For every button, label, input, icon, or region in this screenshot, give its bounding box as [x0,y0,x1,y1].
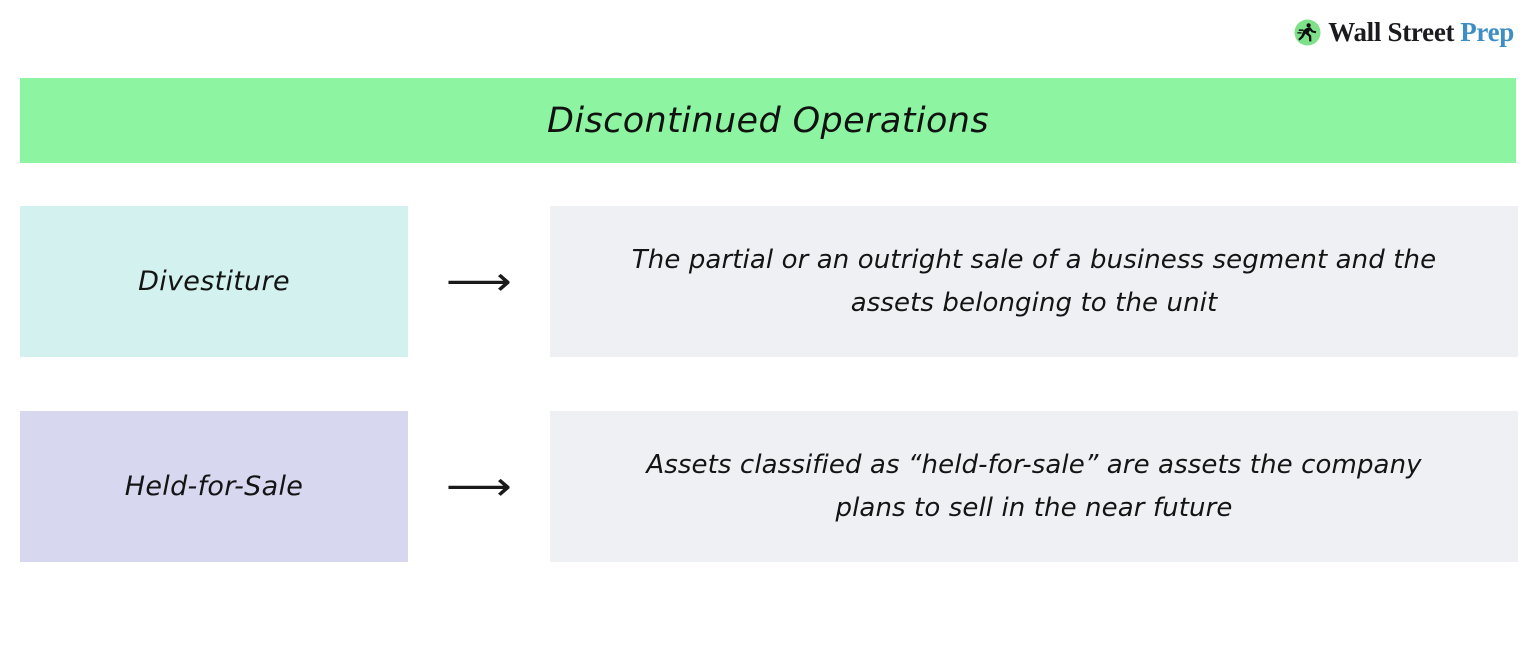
title-banner: Discontinued Operations [20,78,1516,163]
term-box-divestiture: Divestiture [20,206,408,357]
description-text: Assets classified as “held-for-sale” are… [608,444,1460,529]
right-arrow-icon: ⟶ [446,262,512,302]
arrow-connector-divestiture: ⟶ [408,206,550,357]
brand-wordmark: Wall StreetPrep [1328,19,1514,46]
term-label: Held-for-Sale [125,471,303,502]
brand-name-primary: Wall Street [1328,19,1454,46]
description-box-divestiture: The partial or an outright sale of a bus… [550,206,1518,357]
wall-street-prep-logo: Wall StreetPrep [1294,16,1514,48]
page-title: Discontinued Operations [547,101,989,141]
concept-row-divestiture: Divestiture ⟶ The partial or an outright… [20,206,1518,357]
description-box-held-for-sale: Assets classified as “held-for-sale” are… [550,411,1518,562]
right-arrow-icon: ⟶ [446,467,512,507]
description-text: The partial or an outright sale of a bus… [608,239,1460,324]
term-box-held-for-sale: Held-for-Sale [20,411,408,562]
term-label: Divestiture [138,266,290,297]
brand-name-secondary: Prep [1460,19,1514,46]
arrow-connector-held-for-sale: ⟶ [408,411,550,562]
runner-in-green-circle-logo-icon [1294,19,1321,46]
concept-row-held-for-sale: Held-for-Sale ⟶ Assets classified as “he… [20,411,1518,562]
